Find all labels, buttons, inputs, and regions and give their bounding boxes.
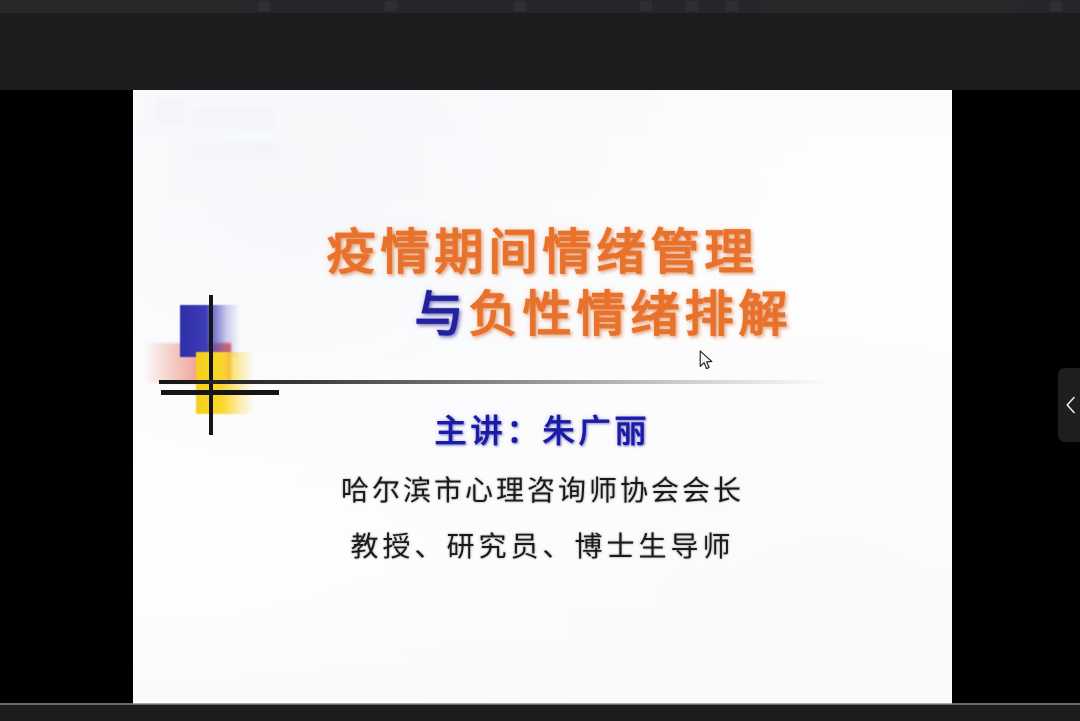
slide-artifact-1: [155, 98, 185, 124]
toolbar-ghost-icon-5: [686, 1, 698, 11]
video-player-screen: 疫情期间情绪管理 与负性情绪排解 主讲：朱广丽 哈尔滨市心理咨询师协会会长 教授…: [0, 0, 1080, 721]
slide-presenter-block: 主讲：朱广丽 哈尔滨市心理咨询师协会会长 教授、研究员、博士生导师: [133, 408, 952, 574]
slide-title-line-1-text: 疫情期间情绪管理: [326, 224, 758, 281]
player-top-toolbar-strip: [0, 0, 1080, 13]
slide-title: 疫情期间情绪管理 与负性情绪排解: [133, 222, 952, 346]
slide-title-line-2: 与负性情绪排解: [133, 284, 952, 346]
toolbar-ghost-icon-6: [726, 1, 738, 11]
slide-title-line-2-orange-text: 负性情绪排解: [469, 286, 793, 343]
slide-divider-rule: [159, 380, 831, 384]
player-top-chrome: [0, 0, 1080, 90]
presenter-name: 主讲：朱广丽: [133, 408, 952, 454]
presenter-role-line-1: 哈尔滨市心理咨询师协会会长: [133, 464, 952, 518]
player-bottom-chrome: [0, 705, 1080, 721]
toolbar-ghost-icon-2: [385, 1, 397, 11]
letterbox-left: [0, 90, 133, 705]
slide-artifact-3: [191, 142, 279, 160]
slide-title-line-2-blue-text: 与: [414, 286, 468, 343]
presenter-role-line-2: 教授、研究员、博士生导师: [133, 520, 952, 574]
chevron-left-icon: [1065, 396, 1076, 414]
slide-title-line-1: 疫情期间情绪管理: [133, 222, 952, 284]
slide-artifact-2: [193, 108, 273, 130]
toolbar-ghost-icon-1: [258, 1, 270, 11]
toolbar-ghost-icon-4: [640, 1, 652, 11]
toolbar-ghost-icon-7: [1050, 1, 1062, 11]
presentation-slide: 疫情期间情绪管理 与负性情绪排解 主讲：朱广丽 哈尔滨市心理咨询师协会会长 教授…: [133, 90, 952, 704]
panel-collapse-handle[interactable]: [1058, 368, 1080, 442]
decoration-horizontal-rule: [161, 390, 279, 395]
toolbar-ghost-icon-3: [514, 1, 526, 11]
